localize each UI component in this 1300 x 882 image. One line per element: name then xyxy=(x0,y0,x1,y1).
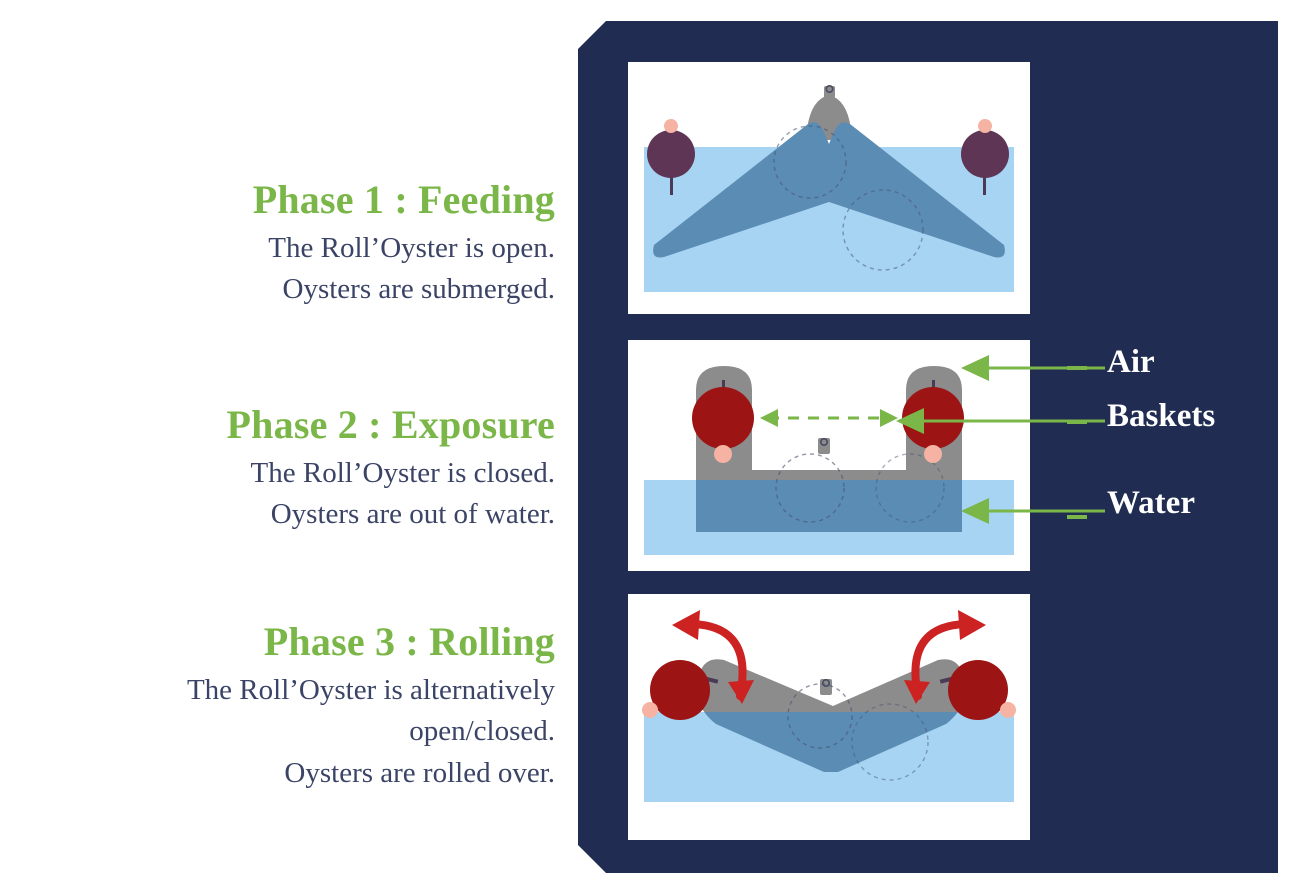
phase-1-description-line-2: Oysters are submerged. xyxy=(0,269,555,310)
rotation-arrow-left-head-outer xyxy=(672,610,700,640)
legend-dash-baskets xyxy=(1067,420,1087,424)
float-left xyxy=(642,702,658,718)
float-left xyxy=(714,445,732,463)
legend-label-water: Water xyxy=(1107,485,1195,522)
phase-2-title: Phase 2 : Exposure xyxy=(0,403,555,446)
basket-left xyxy=(692,387,754,449)
roll-oyster-rolling-svg xyxy=(628,594,1030,840)
phase-3-description-line-2: open/closed. xyxy=(0,711,555,752)
basket-left xyxy=(650,660,710,720)
legend-dash-air xyxy=(1067,366,1087,370)
phase-3-title: Phase 3 : Rolling xyxy=(0,620,555,663)
legend-label-baskets: Baskets xyxy=(1107,398,1215,435)
basket-right-submerged xyxy=(961,130,1009,178)
phase-block-1: Phase 1 : Feeding The Roll’Oyster is ope… xyxy=(0,178,555,311)
phase-block-2: Phase 2 : Exposure The Roll’Oyster is cl… xyxy=(0,403,555,536)
roll-oyster-open-submerged-svg xyxy=(628,62,1030,314)
phase-1-description-line-1: The Roll’Oyster is open. xyxy=(0,228,555,269)
basket-left-submerged xyxy=(647,130,695,178)
float-right xyxy=(924,445,942,463)
legend-label-air: Air xyxy=(1107,344,1155,381)
illustration-panel-phase-1 xyxy=(628,62,1030,314)
phase-3-description-line-1: The Roll’Oyster is alternatively xyxy=(0,670,555,711)
illustration-panel-phase-3 xyxy=(628,594,1030,840)
basket-link-arrowhead-left xyxy=(760,409,778,427)
phase-3-description-line-3: Oysters are rolled over. xyxy=(0,753,555,794)
infographic-root: Phase 1 : Feeding The Roll’Oyster is ope… xyxy=(0,0,1300,882)
phase-2-description-line-1: The Roll’Oyster is closed. xyxy=(0,453,555,494)
legend-arrow-water xyxy=(955,495,1105,527)
phase-block-3: Phase 3 : Rolling The Roll’Oyster is alt… xyxy=(0,620,555,794)
basket-right xyxy=(948,660,1008,720)
float-right xyxy=(1000,702,1016,718)
phase-3-description: The Roll’Oyster is alternatively open/cl… xyxy=(0,670,555,794)
legend-dash-water xyxy=(1067,515,1087,519)
float-left xyxy=(664,119,678,133)
phase-2-description-line-2: Oysters are out of water. xyxy=(0,494,555,535)
rotation-arrow-right-head-outer xyxy=(958,610,986,640)
phase-1-title: Phase 1 : Feeding xyxy=(0,178,555,221)
phase-2-description: The Roll’Oyster is closed. Oysters are o… xyxy=(0,453,555,535)
phase-1-description: The Roll’Oyster is open. Oysters are sub… xyxy=(0,228,555,310)
float-right xyxy=(978,119,992,133)
